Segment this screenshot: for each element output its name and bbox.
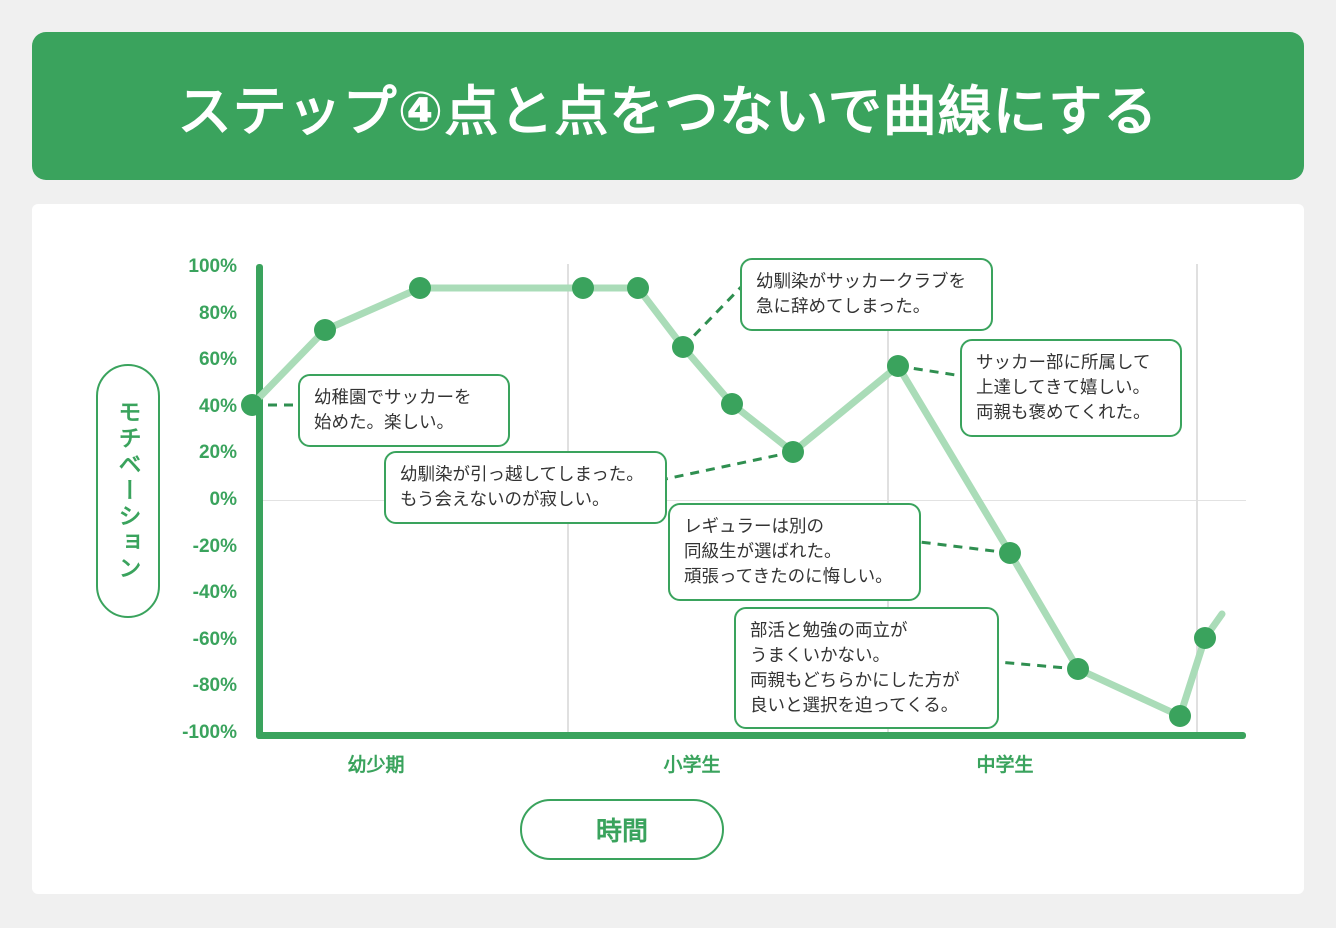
plot-area: 100% 80% 60% 40% 20% 0% -20% -40% -60% -… [32,204,1304,894]
callout-regular-spot-lost[interactable]: レギュラーは別の 同級生が選ばれた。 頑張ってきたのに悔しい。 [668,503,921,601]
y-axis-title: モチベーション [96,364,160,618]
slide-title-banner: ステップ④点と点をつないで曲線にする [32,32,1304,180]
chart-card: 100% 80% 60% 40% 20% 0% -20% -40% -60% -… [32,204,1304,894]
slide-root: ステップ④点と点をつないで曲線にする 100% 80% 60% 40% 20% … [0,0,1336,928]
callout-soccer-club-improving[interactable]: サッカー部に所属して 上達してきて嬉しい。 両親も褒めてくれた。 [960,339,1182,437]
callout-kindergarten-soccer[interactable]: 幼稚園でサッカーを 始めた。楽しい。 [298,374,510,447]
x-axis-title: 時間 [520,799,724,860]
callout-club-vs-study[interactable]: 部活と勉強の両立が うまくいかない。 両親もどちらかにした方が 良いと選択を迫っ… [734,607,999,729]
callout-friend-quit-club[interactable]: 幼馴染がサッカークラブを 急に辞めてしまった。 [740,258,993,331]
page-title: ステップ④点と点をつないで曲線にする [178,67,1159,146]
callout-friend-moved-away[interactable]: 幼馴染が引っ越してしまった。 もう会えないのが寂しい。 [384,451,667,524]
